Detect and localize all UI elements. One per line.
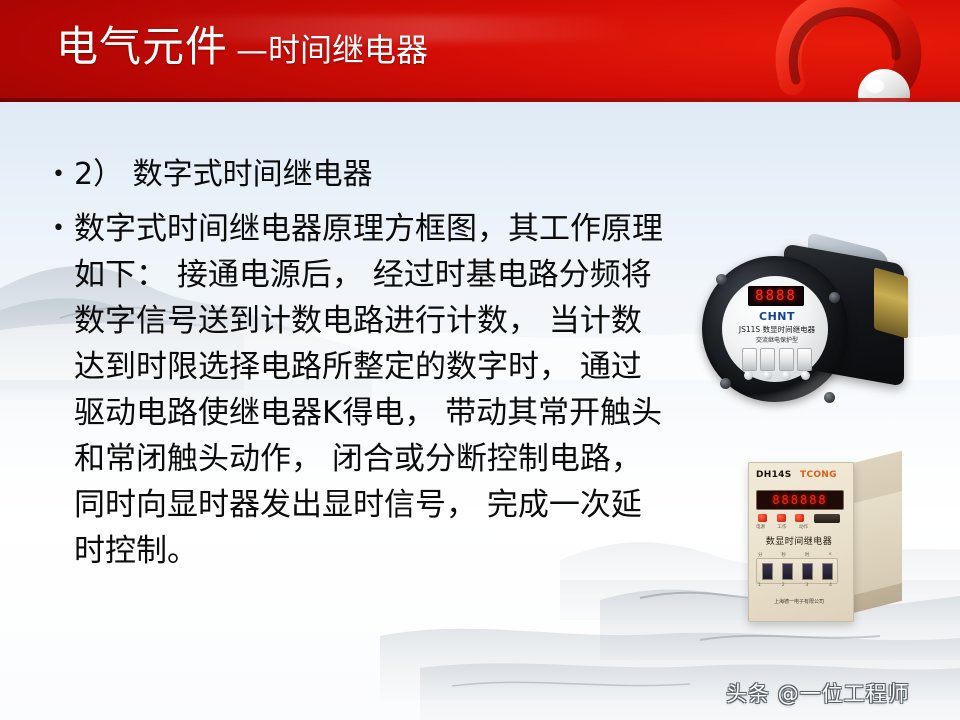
bullet-text-2: 数字式时间继电器原理方框图，其工作原理如下： 接通电源后， 经过时基电路分频将数… xyxy=(74,206,672,574)
relay-panel-switch-label: 4 xyxy=(829,583,832,588)
page-title-main: 电气元件 xyxy=(56,22,228,71)
relay-round-brand: CHNT xyxy=(748,310,806,323)
relay-panel-indicator-lamps xyxy=(758,514,804,522)
bullet-marker-icon: • xyxy=(52,152,74,198)
relay-panel-logo: TCONG xyxy=(800,470,837,480)
relay-panel-image: DH14S TCONG 888888 电源 工作 动作 数显时间继电器 分 秒 … xyxy=(738,448,938,648)
header-divider xyxy=(0,98,960,102)
relay-panel-side-back xyxy=(846,491,902,597)
watermark: 头条 @一位工程师 xyxy=(726,678,910,708)
slide-header: 电气元件—时间继电器 xyxy=(0,0,960,102)
page-title: 电气元件—时间继电器 xyxy=(56,26,428,68)
relay-round-subtitle: 交流继电保护型 xyxy=(736,335,818,344)
relay-round-led-display: 8888 xyxy=(748,286,804,306)
relay-panel-switch-label: 1 xyxy=(758,583,761,588)
question-mark-icon xyxy=(756,0,946,102)
bullet-item-2: • 数字式时间继电器原理方框图，其工作原理如下： 接通电源后， 经过时基电路分频… xyxy=(52,206,672,574)
relay-panel-lamp-label: 动作 xyxy=(799,524,808,530)
relay-panel-knob xyxy=(814,514,840,523)
relay-panel-model: DH14S xyxy=(756,470,792,480)
relay-round-screw xyxy=(716,274,727,285)
slide-root: 电气元件—时间继电器 • 2） 数字式时间继电器 • 数字式时间继电器原理方框图… xyxy=(0,0,960,720)
relay-round-brass-contact xyxy=(874,267,908,339)
bullet-marker-icon: • xyxy=(52,206,74,252)
relay-panel-lamp-label: 工作 xyxy=(778,524,787,530)
relay-round-screw xyxy=(824,392,835,403)
relay-panel-switch-label: 2 xyxy=(782,583,785,588)
relay-round-model: JS11S 数显时间继电器 xyxy=(728,324,826,335)
relay-round-led-value: 8888 xyxy=(755,288,797,304)
relay-round-terminal-block xyxy=(742,348,812,370)
bullet-item-1: • 2） 数字式时间继电器 xyxy=(52,152,672,198)
relay-panel-switch-labels-bottom: 1 2 3 4 xyxy=(758,583,832,588)
page-title-sub: —时间继电器 xyxy=(236,31,428,69)
relay-round-pins xyxy=(744,371,810,380)
relay-panel-dip-switches xyxy=(756,558,838,584)
bullet-text-1: 2） 数字式时间继电器 xyxy=(74,152,672,198)
relay-panel-maker: 上海德一电子有限公司 xyxy=(750,598,848,605)
relay-round-screw xyxy=(829,292,840,303)
relay-round-image: 8888 CHNT JS11S 数显时间继电器 交流继电保护型 xyxy=(696,238,924,410)
content-body: • 2） 数字式时间继电器 • 数字式时间继电器原理方框图，其工作原理如下： 接… xyxy=(52,152,672,574)
relay-panel-switch-label: 3 xyxy=(805,583,808,588)
relay-round-screw xyxy=(720,378,731,389)
relay-panel-lamp-labels: 电源 工作 动作 xyxy=(756,524,808,530)
relay-panel-title: 数显时间继电器 xyxy=(750,534,848,547)
relay-panel-lamp-label: 电源 xyxy=(756,524,765,530)
relay-panel-led-value: 888888 xyxy=(772,493,827,507)
relay-panel-led-display: 888888 xyxy=(756,490,844,510)
